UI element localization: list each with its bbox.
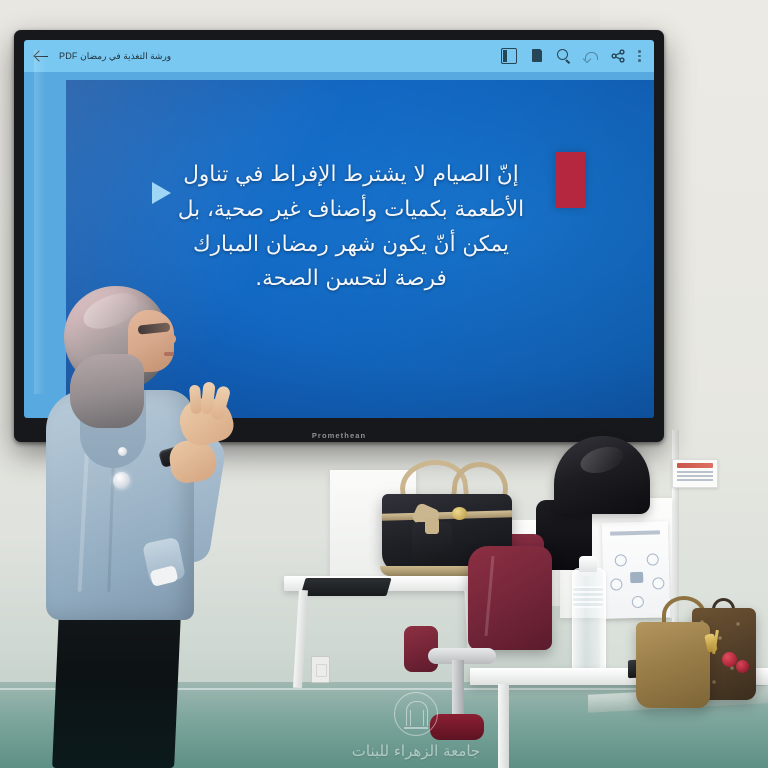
- finger: [189, 385, 202, 415]
- water-bottle: [572, 568, 606, 678]
- poster-node: [652, 577, 664, 589]
- poster-heading: [610, 530, 660, 535]
- app-bar-toolbar: [501, 48, 644, 64]
- app-bar-left-group: ورشة التغذية في رمضان PDF: [34, 48, 171, 64]
- nose: [168, 334, 176, 344]
- poster-node: [647, 553, 659, 565]
- document-title: ورشة التغذية في رمضان PDF: [59, 51, 171, 62]
- poster-hub: [630, 572, 643, 583]
- handbag-tab: [425, 518, 439, 534]
- poster-node: [615, 554, 627, 566]
- mousepad: [300, 578, 391, 596]
- slide-accent-block: [555, 152, 585, 208]
- desk-leg: [498, 684, 509, 768]
- search-icon[interactable]: [557, 49, 571, 63]
- bottle-cap: [579, 556, 597, 572]
- display-brand-label: Promethean: [312, 431, 366, 440]
- presenter-head: [64, 286, 168, 394]
- poster-node: [610, 578, 622, 590]
- pdf-app-bar: ورشة التغذية في رمضان PDF: [24, 40, 654, 72]
- wall-outlet: [311, 656, 330, 683]
- poster-node: [632, 596, 644, 608]
- screenshot-scene: ورشة التغذية في رمضان PDF: [0, 0, 768, 768]
- wall-sign-body: [677, 471, 713, 483]
- tan-handbag: [636, 622, 710, 708]
- cherry-charm: [722, 652, 737, 667]
- share-icon[interactable]: [611, 49, 625, 63]
- chair-wheel: [430, 714, 484, 740]
- side-panel-icon[interactable]: [501, 48, 517, 64]
- infographic-poster: [602, 521, 670, 619]
- more-options-icon[interactable]: [638, 49, 642, 63]
- brooch: [113, 472, 130, 489]
- document-icon[interactable]: [530, 49, 544, 63]
- collar-pin: [118, 447, 127, 456]
- lips: [164, 352, 174, 356]
- bottle-ribbing: [573, 586, 603, 608]
- hijab-drape: [70, 354, 144, 428]
- wall-sign-heading: [677, 463, 713, 468]
- wall-sign: [672, 459, 718, 488]
- chair-post: [452, 660, 464, 716]
- presenter: [28, 272, 238, 768]
- cherry-charm: [736, 660, 749, 673]
- handbag-buckle: [452, 507, 467, 520]
- maroon-chair: [468, 546, 552, 650]
- undo-icon[interactable]: [584, 49, 598, 63]
